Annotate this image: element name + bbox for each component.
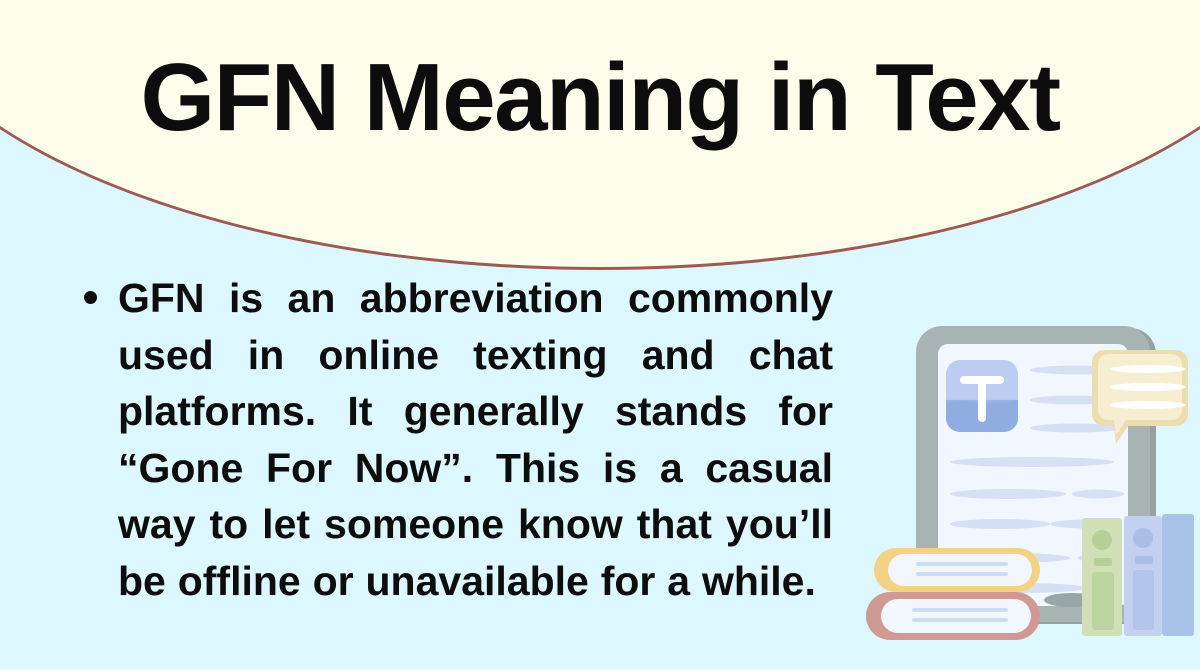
bullet-dot-icon [84,291,97,304]
bullet-text: GFN is an abbreviation commonly used in … [118,270,833,609]
text-app-icon [946,360,1018,432]
body-content: GFN is an abbreviation commonly used in … [74,270,844,609]
binder-shelf-icon [1082,514,1194,636]
slide-canvas: GFN Meaning in Text GFN is an abbreviati… [0,0,1200,670]
tablet-document-books-illustration [860,300,1200,670]
book-stack-icon [866,548,1040,640]
header-band-top-cover [0,0,1200,4]
page-title: GFN Meaning in Text [0,50,1200,146]
list-item: GFN is an abbreviation commonly used in … [74,270,844,609]
